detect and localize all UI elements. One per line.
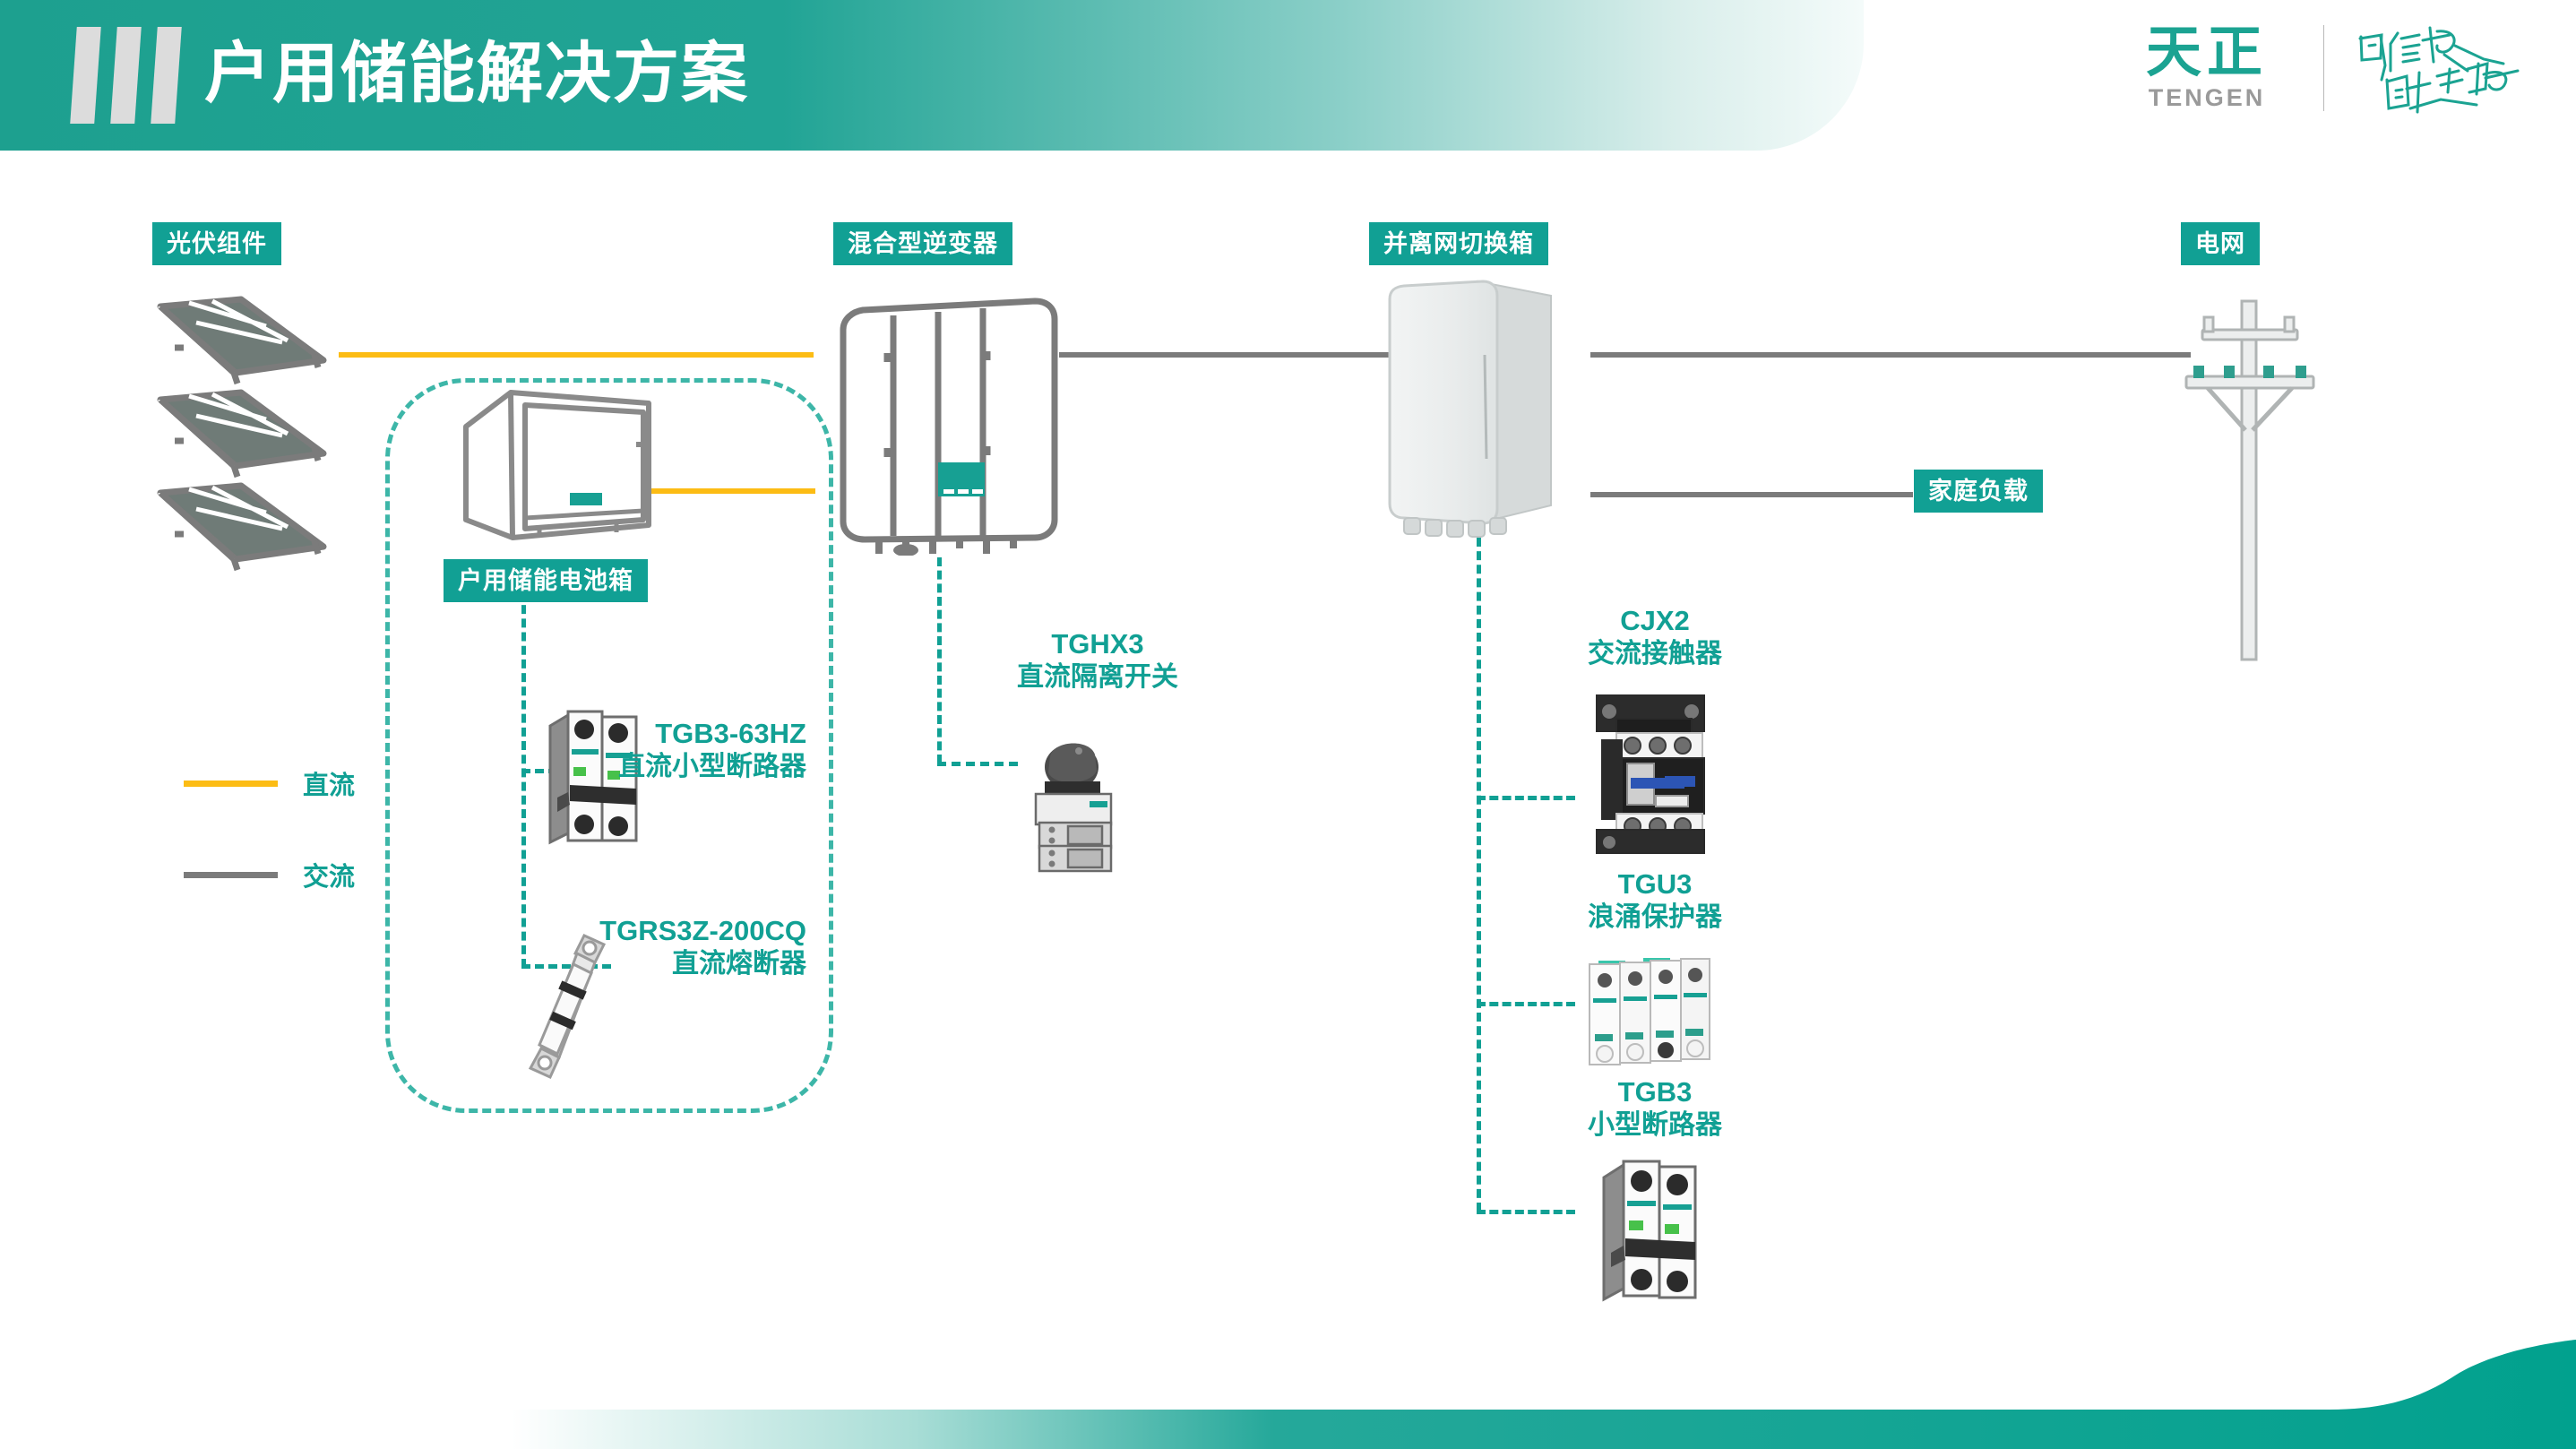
hybrid-inverter-icon <box>829 296 1071 556</box>
badge-pv: 光伏组件 <box>152 222 281 265</box>
component-label-tgb3: TGB3 小型断路器 <box>1444 1075 1865 1142</box>
legend-swatch-dc <box>184 781 278 787</box>
legend-item-dc: 直流 <box>184 757 355 809</box>
utility-pole-icon <box>2168 287 2330 663</box>
component-label-tgb3-63hz: TGB3-63HZ 直流小型断路器 <box>358 717 806 783</box>
mcb-icon <box>1591 1149 1708 1310</box>
component-label-tgu3: TGU3 浪涌保护器 <box>1444 867 1865 934</box>
logo-wordmark: 天正 TENGEN <box>2117 23 2296 113</box>
legend-label-ac: 交流 <box>303 856 355 893</box>
grid-switch-box-icon <box>1384 280 1559 539</box>
spd-icon <box>1579 943 1722 1077</box>
badge-switchbox: 并离网切换箱 <box>1369 222 1548 265</box>
legend-swatch-ac <box>184 872 278 878</box>
logo-brand-en: TENGEN <box>2117 82 2296 113</box>
badge-grid: 电网 <box>2181 222 2260 265</box>
logo-brand-cn: 天正 <box>2117 23 2296 82</box>
pv-panel-group <box>148 296 345 582</box>
wire-pv-to-inverter-dc <box>339 352 814 358</box>
wire-switchbox-to-grid-ac <box>1590 352 2191 358</box>
page-header: 户用储能解决方案 <box>0 0 1864 151</box>
logo-slogan-handwriting <box>2351 19 2530 117</box>
wire-inverter-to-switchbox-ac <box>1059 352 1391 358</box>
footer-decoration <box>0 1340 2576 1449</box>
component-label-tgrs3z: TGRS3Z-200CQ 直流熔断器 <box>340 914 806 980</box>
switchbox-branch-2 <box>1477 1002 1575 1006</box>
legend: 直流 交流 <box>184 757 355 901</box>
inverter-branch-1 <box>937 762 1018 766</box>
switchbox-branch-1 <box>1477 796 1575 800</box>
badge-inverter: 混合型逆变器 <box>833 222 1012 265</box>
wire-switchbox-to-homeload-ac <box>1590 492 1913 497</box>
brand-logo: 天正 TENGEN <box>2117 14 2538 122</box>
three-bars-icon <box>72 27 188 124</box>
isolator-switch-icon <box>1020 726 1127 878</box>
component-label-tghx3: TGHX3 直流隔离开关 <box>896 627 1299 694</box>
component-label-cjx2: CJX2 交流接触器 <box>1444 604 1865 670</box>
badge-home-load: 家庭负载 <box>1914 470 2043 513</box>
home-energy-storage-diagram: 户用储能解决方案 天正 TENGEN <box>0 0 2576 1449</box>
logo-divider <box>2323 25 2324 111</box>
battery-cabinet-icon <box>459 385 656 556</box>
page-title: 户用储能解决方案 <box>204 20 749 127</box>
contactor-icon <box>1577 688 1729 858</box>
legend-label-dc: 直流 <box>303 764 355 802</box>
switchbox-branch-3 <box>1477 1210 1575 1214</box>
legend-item-ac: 交流 <box>184 849 355 901</box>
